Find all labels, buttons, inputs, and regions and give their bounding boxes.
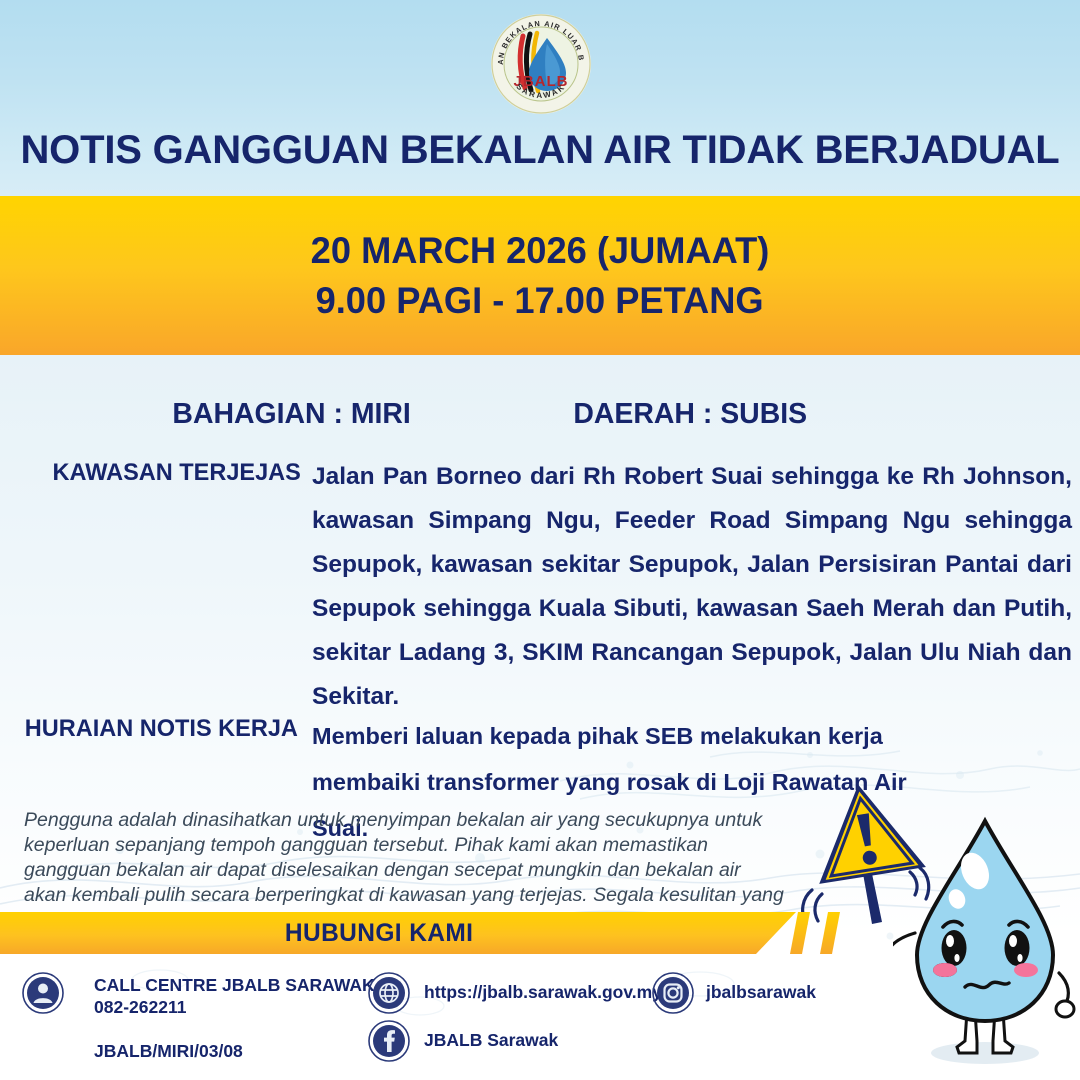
work-description-label: HURAIAN NOTIS KERJA: [25, 715, 298, 743]
region-row: BAHAGIAN : MIRI DAERAH : SUBIS: [0, 398, 1080, 440]
jbalb-logo: JBALB JABATAN BEKALAN AIR LUAR BANDAR SA…: [489, 12, 593, 116]
page-title: NOTIS GANGGUAN BEKALAN AIR TIDAK BERJADU…: [0, 128, 1080, 173]
contact-details: CALL CENTRE JBALB SARAWAK 082-262211 htt…: [0, 962, 1080, 1080]
affected-areas-label: KAWASAN TERJEJAS: [53, 459, 301, 487]
schedule-time: 9.00 PAGI - 17.00 PETANG: [316, 276, 764, 326]
website-text[interactable]: https://jbalb.sarawak.gov.my/: [424, 981, 667, 1003]
facebook-icon[interactable]: [368, 1020, 410, 1062]
division-label: BAHAGIAN : MIRI: [172, 398, 410, 431]
contact-banner-label: HUBUNGI KAMI: [285, 919, 473, 948]
call-centre-text: CALL CENTRE JBALB SARAWAK 082-262211: [94, 974, 375, 1018]
schedule-date: 20 MARCH 2026 (JUMAAT): [311, 226, 770, 276]
call-centre-icon[interactable]: [22, 972, 64, 1014]
jbalb-logo-icon: JBALB JABATAN BEKALAN AIR LUAR BANDAR SA…: [489, 12, 593, 116]
instagram-text[interactable]: jbalbsarawak: [706, 981, 816, 1003]
district-label: DAERAH : SUBIS: [573, 398, 807, 431]
notice-reference: JBALB/MIRI/03/08: [94, 1040, 243, 1062]
page-title-text: NOTIS GANGGUAN BEKALAN AIR TIDAK BERJADU…: [20, 128, 1059, 172]
water-disruption-notice-poster: JBALB JABATAN BEKALAN AIR LUAR BANDAR SA…: [0, 0, 1080, 1080]
contact-banner: HUBUNGI KAMI: [0, 912, 796, 954]
instagram-icon[interactable]: [652, 972, 694, 1014]
facebook-text[interactable]: JBALB Sarawak: [424, 1029, 558, 1051]
website-globe-icon[interactable]: [368, 972, 410, 1014]
schedule-band: 20 MARCH 2026 (JUMAAT) 9.00 PAGI - 17.00…: [0, 196, 1080, 355]
